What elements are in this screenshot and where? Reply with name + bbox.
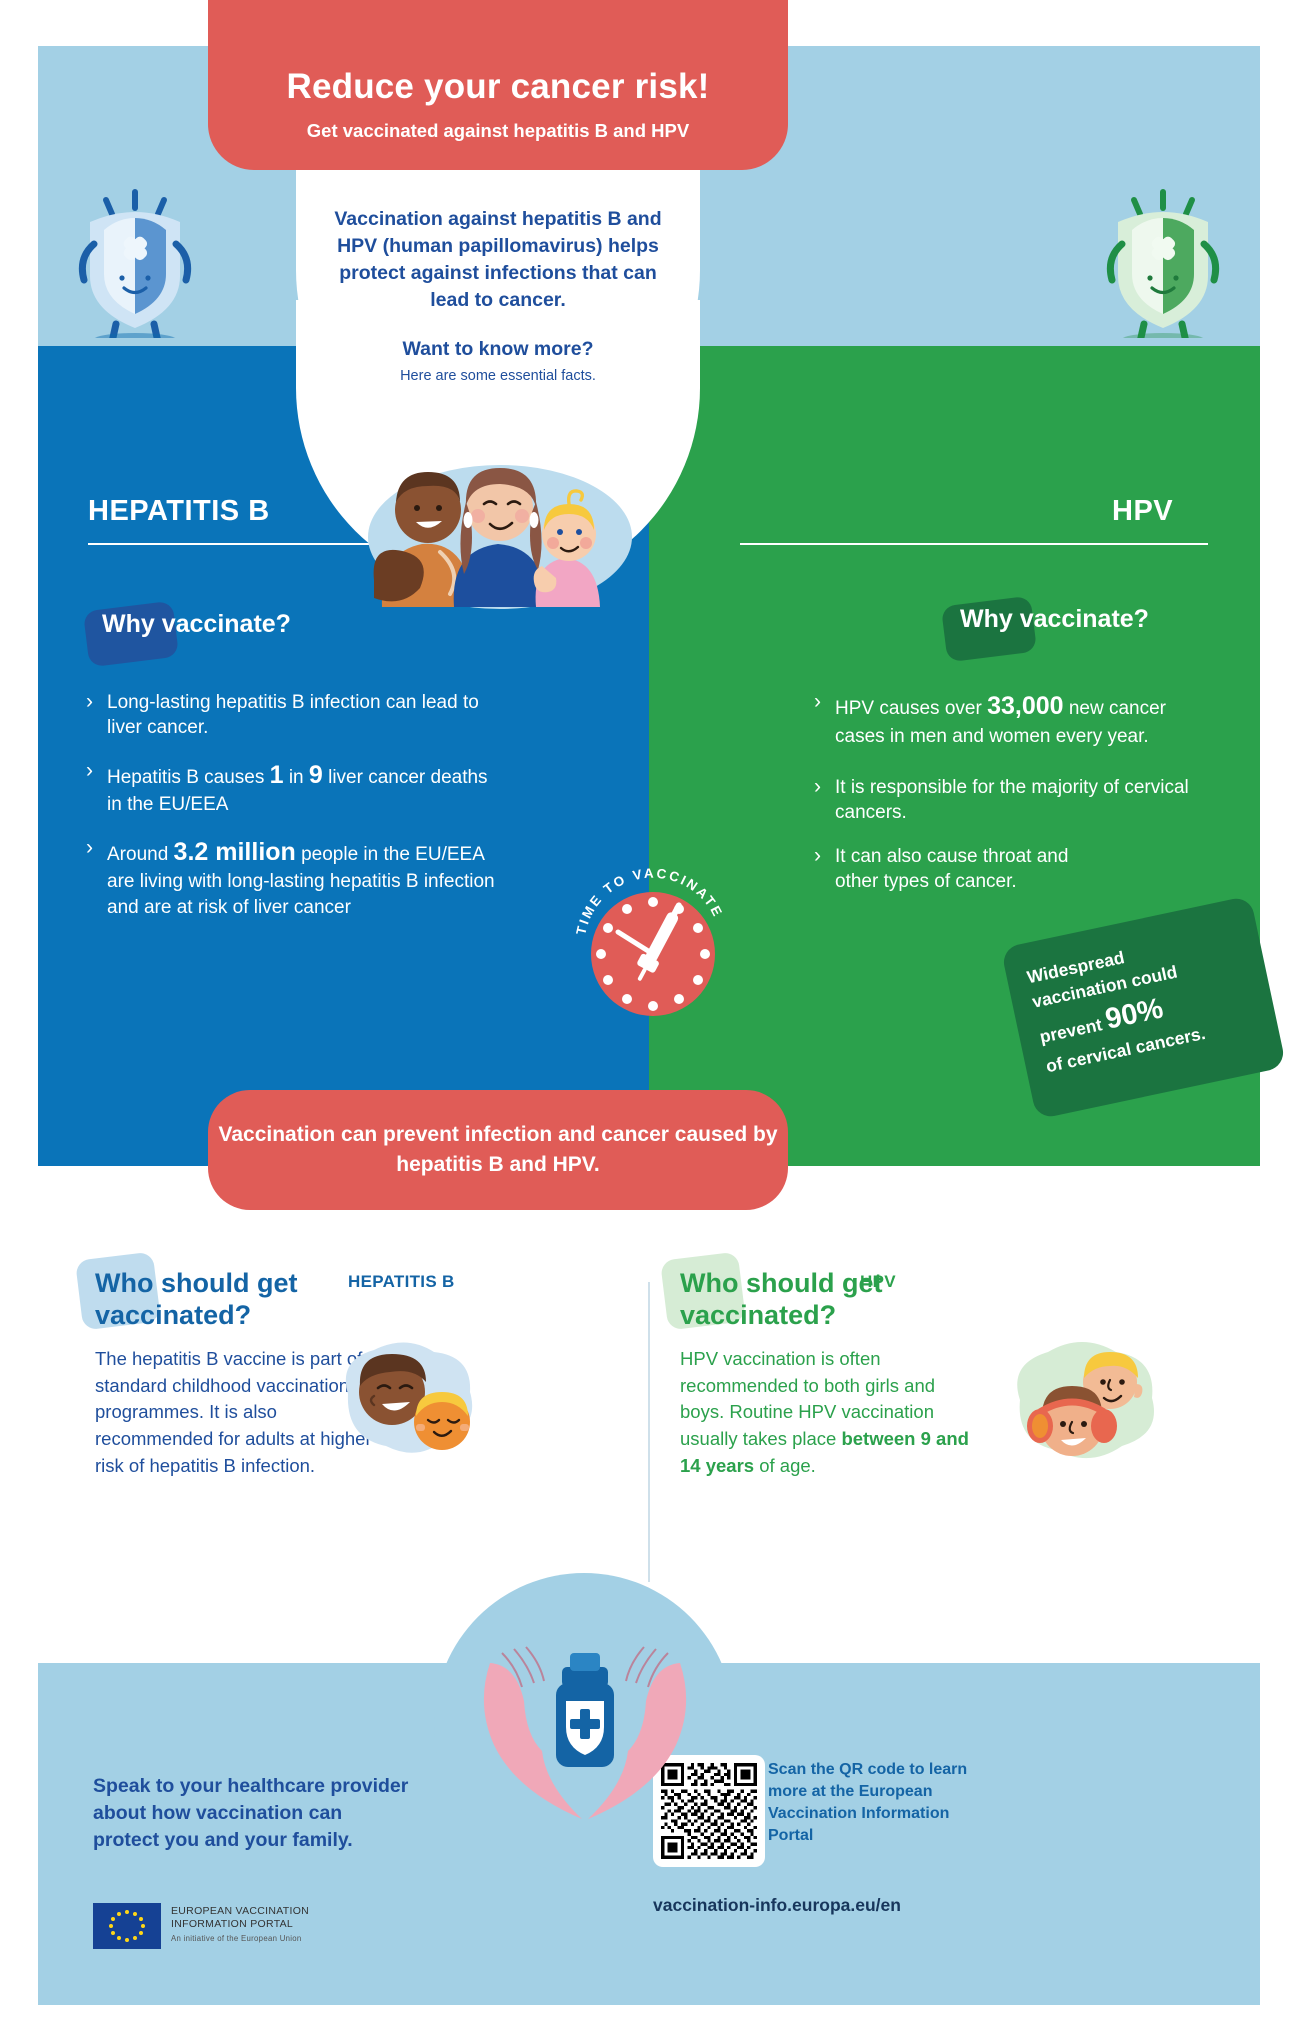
eu-vaccination-portal-logo: EUROPEAN VACCINATION INFORMATION PORTAL …: [93, 1903, 309, 1949]
page-subtitle: Get vaccinated against hepatitis B and H…: [307, 120, 689, 142]
facts-list-hpv: HPV causes over 33,000 new cancer cases …: [812, 690, 1202, 913]
intro-subtext: Here are some essential facts.: [400, 368, 596, 384]
shield-mascot-hpv-icon: [1088, 188, 1238, 338]
fact-item: Hepatitis B causes 1 in 9 liver cancer d…: [84, 759, 504, 818]
eu-stars: [93, 1903, 161, 1949]
intro-lead: Vaccination against hepatitis B and HPV …: [322, 206, 674, 314]
eu-logo-text: EUROPEAN VACCINATION INFORMATION PORTAL …: [171, 1903, 309, 1943]
chip-why-vaccinate-hpv: Why vaccinate?: [960, 605, 1149, 634]
faces-illustration-hepatitis-b: [330, 1330, 490, 1480]
bottom-banner-text: Vaccination can prevent infection and ca…: [208, 1120, 788, 1180]
hero-section: HEPATITIS B HPV Why vaccinate? Why vacci…: [0, 0, 1296, 1225]
intro-question: Want to know more?: [402, 338, 593, 361]
tag-hpv: HPV: [860, 1272, 896, 1292]
badge-text: Widespread vaccination could prevent 90%…: [1025, 921, 1259, 1079]
scan-instruction: Scan the QR code to learn more at the Eu…: [768, 1759, 978, 1847]
chip-why-vaccinate-hepb: Why vaccinate?: [102, 610, 291, 639]
who-heading-hpv: Who should get vaccinated?: [680, 1268, 950, 1332]
fact-item: Around 3.2 million people in the EU/EEA …: [84, 836, 504, 920]
footer-section: Speak to your healthcare provider about …: [38, 1663, 1260, 2005]
shield-mascot-hepatitis-b-icon: [60, 188, 210, 338]
portal-url[interactable]: vaccination-info.europa.eu/en: [653, 1895, 901, 1916]
fact-item: HPV causes over 33,000 new cancer cases …: [812, 690, 1202, 749]
eu-flag-icon: [93, 1903, 161, 1949]
who-should-get-vaccinated-section: Who should get vaccinated? The hepatitis…: [0, 1268, 1296, 1628]
family-illustration: [350, 402, 650, 612]
footer-message: Speak to your healthcare provider about …: [93, 1773, 413, 1854]
who-heading-hepatitis-b: Who should get vaccinated?: [95, 1268, 365, 1332]
section-title-hepatitis-b: HEPATITIS B: [88, 495, 270, 528]
clock-time-to-vaccinate: TIME TO VACCINATE: [568, 862, 738, 1032]
fact-item: It can also cause throat and other types…: [812, 844, 1102, 895]
who-body-hpv: HPV vaccination is often recommended to …: [680, 1346, 980, 1480]
tag-hepatitis-b: HEPATITIS B: [348, 1272, 455, 1292]
faces-illustration-hpv: [1000, 1330, 1170, 1485]
facts-list-hepatitis-b: Long-lasting hepatitis B infection can l…: [84, 690, 504, 938]
fact-item: Long-lasting hepatitis B infection can l…: [84, 690, 504, 741]
fact-item: It is responsible for the majority of ce…: [812, 775, 1202, 826]
page-title: Reduce your cancer risk!: [286, 67, 709, 107]
section-title-hpv: HPV: [1112, 495, 1173, 528]
rule-hpv: [740, 543, 1208, 545]
header-banner: Reduce your cancer risk! Get vaccinated …: [208, 0, 788, 170]
hands-heart-vaccine-illustration: [450, 1623, 720, 1853]
bottom-banner: Vaccination can prevent infection and ca…: [208, 1090, 788, 1210]
